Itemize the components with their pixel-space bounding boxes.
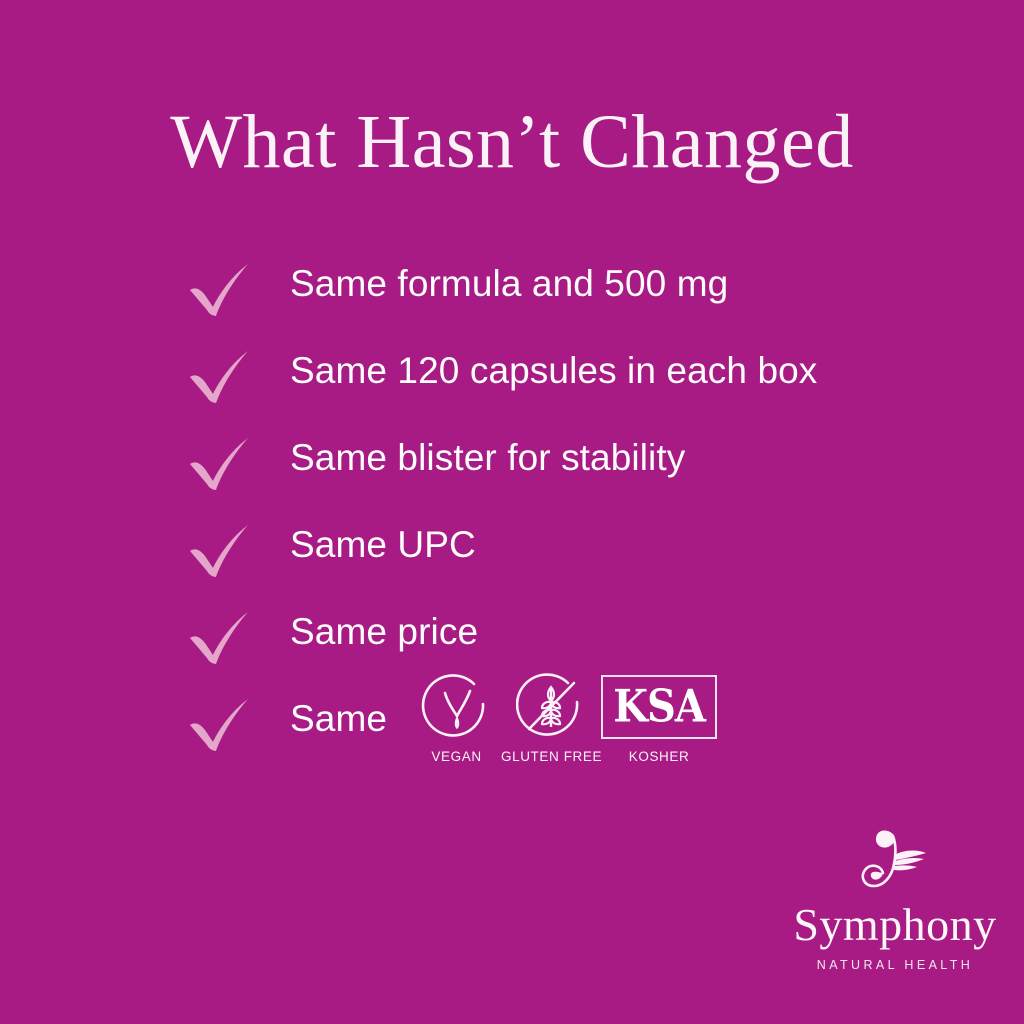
checkmark-icon [186, 434, 258, 494]
badge-vegan: VEGAN [409, 671, 504, 764]
kosher-ksa-icon: KSA [601, 671, 717, 743]
kosher-mark-text: KSA [613, 685, 705, 730]
leaf-swirl-icon [790, 822, 1000, 900]
page-title: What Hasn’t Changed [0, 104, 1024, 180]
list-item: Same UPC [186, 519, 976, 606]
checkmark-icon [186, 608, 258, 668]
logo-tagline: NATURAL HEALTH [790, 958, 1000, 972]
list-item-label: Same formula and 500 mg [290, 258, 728, 310]
list-item-label: Same [290, 693, 387, 745]
promo-graphic: What Hasn’t Changed Same formula and 500… [0, 0, 1024, 1024]
badge-kosher: KSA KOSHER [599, 671, 719, 764]
feature-list: Same formula and 500 mg Same 120 capsule… [186, 258, 976, 780]
badge-gluten-free: GLUTEN FREE [504, 671, 599, 764]
badge-label: GLUTEN FREE [501, 749, 602, 764]
logo-wordmark: Symphony [790, 902, 1000, 948]
badge-label: KOSHER [629, 749, 690, 764]
list-item: Same formula and 500 mg [186, 258, 976, 345]
list-item: Same VEGAN [186, 693, 976, 780]
certification-badges: VEGAN [409, 671, 719, 764]
list-item: Same blister for stability [186, 432, 976, 519]
list-item-label: Same blister for stability [290, 432, 685, 484]
checkmark-icon [186, 695, 258, 755]
checkmark-icon [186, 347, 258, 407]
checkmark-icon [186, 521, 258, 581]
list-item: Same 120 capsules in each box [186, 345, 976, 432]
vegan-icon [421, 671, 493, 743]
gluten-free-icon [516, 671, 588, 743]
brand-logo: Symphony NATURAL HEALTH [790, 822, 1000, 972]
checkmark-icon [186, 260, 258, 320]
list-item-label: Same UPC [290, 519, 476, 571]
list-item-label: Same price [290, 606, 478, 658]
kosher-box: KSA [601, 675, 717, 739]
badge-label: VEGAN [431, 749, 481, 764]
list-item-label: Same 120 capsules in each box [290, 345, 817, 397]
